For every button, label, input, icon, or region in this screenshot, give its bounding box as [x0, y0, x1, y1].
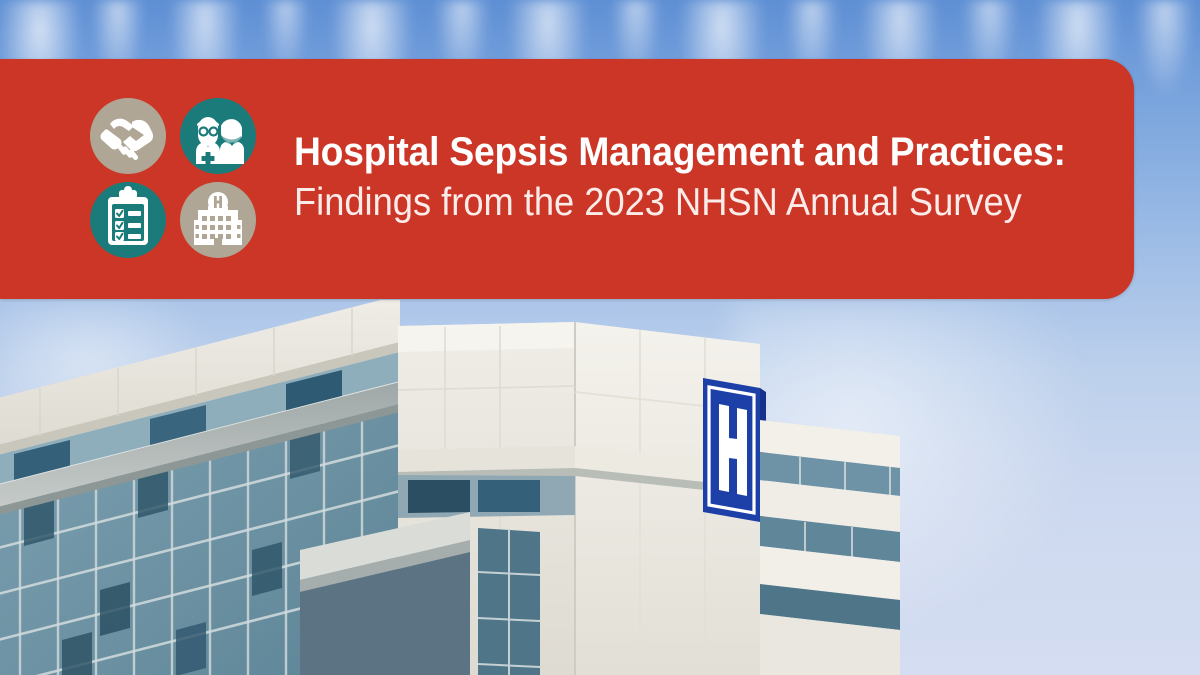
poster-root: Hospital Sepsis Management and Practices…: [0, 0, 1200, 675]
hospital-building-icon: [176, 180, 260, 260]
title-block: Hospital Sepsis Management and Practices…: [294, 131, 1124, 226]
icon-cluster: [86, 96, 264, 262]
handshake-icon: [86, 96, 170, 176]
hospital-building-photo: [0, 300, 900, 675]
title-banner: Hospital Sepsis Management and Practices…: [0, 59, 1134, 299]
page-title: Hospital Sepsis Management and Practices…: [294, 131, 1066, 173]
building-illustration: [0, 300, 900, 675]
hospital-h-sign: [703, 378, 766, 524]
clipboard-checklist-icon: [86, 180, 170, 260]
healthcare-workers-icon: [176, 96, 260, 176]
page-subtitle: Findings from the 2023 NHSN Annual Surve…: [294, 181, 1066, 225]
